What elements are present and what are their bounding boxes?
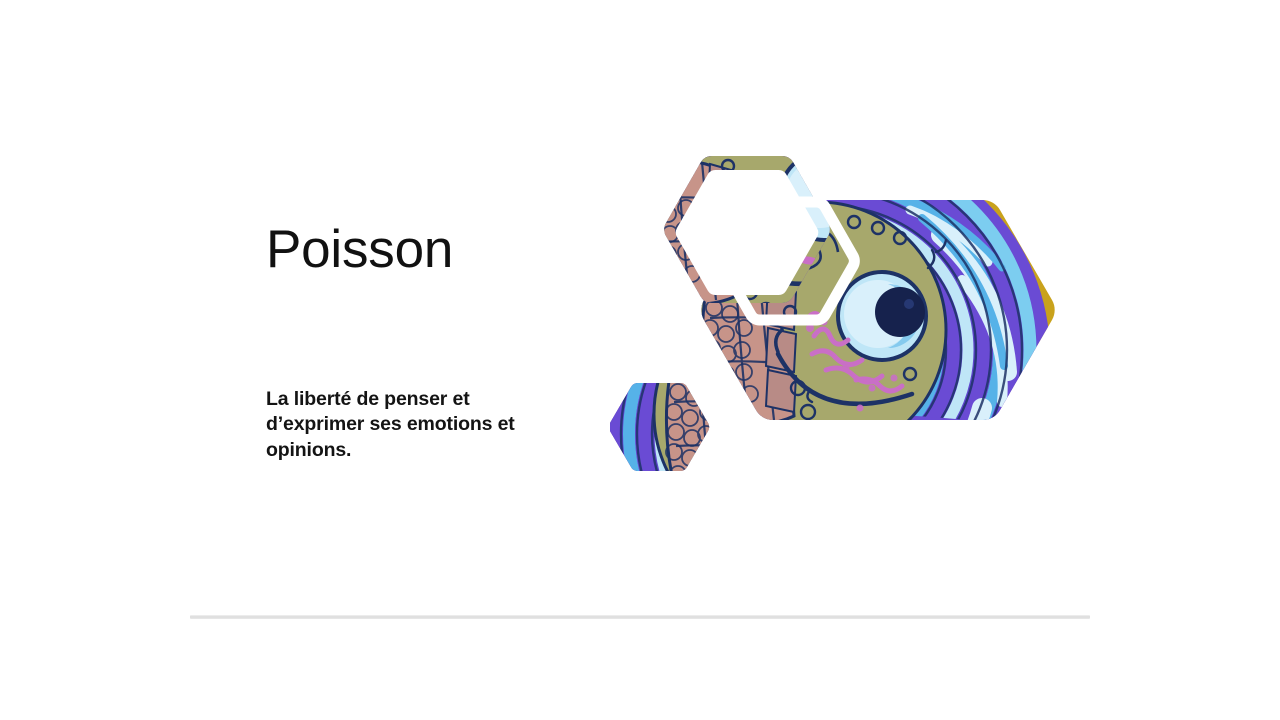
slide-body-text: La liberté de penser et d’exprimer ses e…	[266, 387, 566, 463]
fish-artwork	[610, 140, 1100, 580]
slide-canvas: Poisson La liberté de penser et d’exprim…	[0, 0, 1280, 720]
page-title: Poisson	[266, 222, 453, 278]
footer-divider	[190, 615, 1090, 619]
